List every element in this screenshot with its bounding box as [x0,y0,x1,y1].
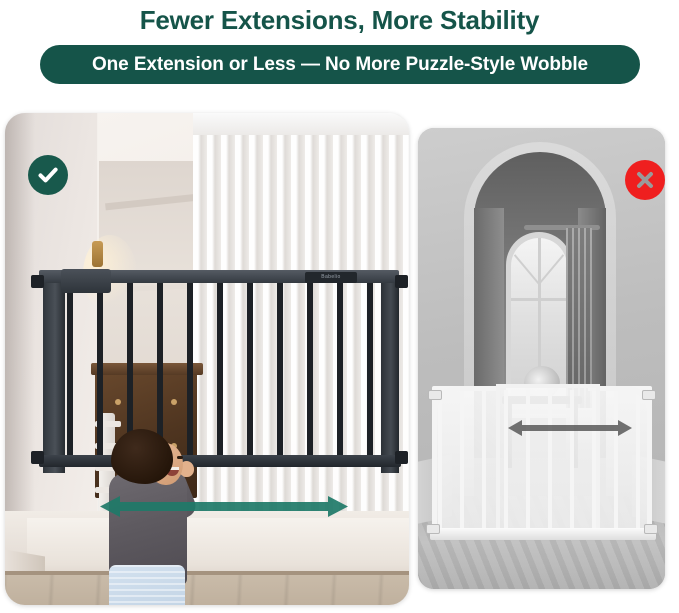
bad-scene-image [418,128,665,589]
subhead-badge-label: One Extension or Less — No More Puzzle-S… [92,54,588,76]
good-example-panel: Babelio [5,113,409,605]
page-title: Fewer Extensions, More Stability [0,3,679,37]
check-circle-icon [28,155,68,195]
bad-example-panel [418,128,665,589]
good-span-arrow-icon [100,494,348,519]
good-scene-image: Babelio [5,113,409,605]
subhead-badge: One Extension or Less — No More Puzzle-S… [40,45,640,84]
x-circle-icon [625,160,665,200]
bad-span-arrow-icon [508,418,632,438]
comparison-panels: Babelio [0,100,679,613]
header: Fewer Extensions, More Stability One Ext… [0,0,679,100]
gate-brand-label: Babelio [305,272,357,283]
